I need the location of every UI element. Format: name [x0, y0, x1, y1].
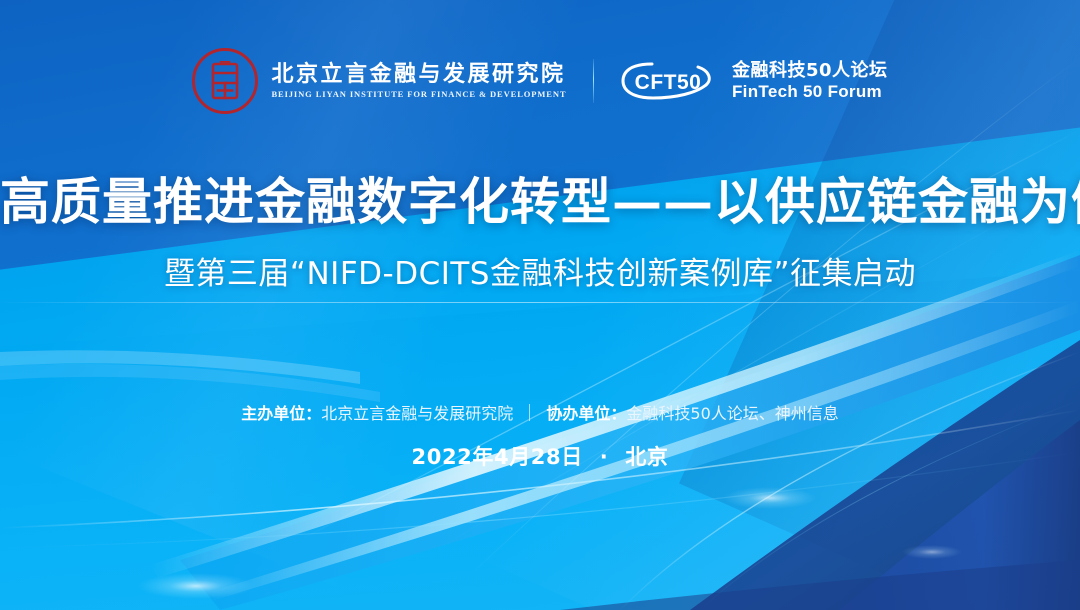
svg-text:CFT50: CFT50 [635, 71, 702, 94]
host-organizer: 主办单位： 北京立言金融与发展研究院 [241, 400, 513, 424]
co-organizer-label: 协办单位： [546, 400, 626, 424]
cft50-oval-icon: CFT50 [620, 58, 718, 104]
institute-logo: 北京立言金融与发展研究院 BEIJING LIYAN INSTITUTE FOR… [192, 48, 566, 114]
organizer-row: 主办单位： 北京立言金融与发展研究院 协办单位： 金融科技50人论坛、神州信息 [0, 400, 1080, 424]
cft50-name-en: FinTech 50 Forum [732, 82, 888, 101]
institute-seal-icon [192, 48, 258, 114]
cft50-name-cn: 金融科技50人论坛 [732, 61, 888, 81]
organizer-divider [529, 404, 530, 421]
co-organizer-value: 金融科技50人论坛、神州信息 [626, 400, 838, 424]
page-title: 高质量推进金融数字化转型——以供应链金融为例 [0, 162, 1080, 234]
cft50-logo: CFT50 金融科技50人论坛 FinTech 50 Forum [620, 58, 888, 104]
institute-logo-text: 北京立言金融与发展研究院 BEIJING LIYAN INSTITUTE FOR… [271, 63, 566, 99]
institute-name-en: BEIJING LIYAN INSTITUTE FOR FINANCE & DE… [271, 89, 566, 99]
event-datetime-location: 2022年4月28日 · 北京 [0, 441, 1080, 471]
date-location-separator: · [591, 445, 618, 469]
event-date: 2022年4月28日 [412, 445, 583, 469]
page-subtitle: 暨第三届“NIFD-DCITS金融科技创新案例库”征集启动 [0, 248, 1080, 293]
logo-divider [593, 59, 595, 103]
host-organizer-value: 北京立言金融与发展研究院 [321, 400, 513, 424]
background-hairline [0, 302, 1080, 303]
conference-poster: 北京立言金融与发展研究院 BEIJING LIYAN INSTITUTE FOR… [0, 0, 1080, 610]
event-location: 北京 [625, 445, 668, 469]
host-organizer-label: 主办单位： [241, 400, 321, 424]
seal-glyph-icon [210, 61, 240, 101]
institute-name-cn: 北京立言金融与发展研究院 [271, 63, 566, 87]
cft50-logo-text: 金融科技50人论坛 FinTech 50 Forum [732, 61, 888, 101]
logo-row: 北京立言金融与发展研究院 BEIJING LIYAN INSTITUTE FOR… [0, 48, 1080, 114]
co-organizer: 协办单位： 金融科技50人论坛、神州信息 [546, 400, 838, 424]
